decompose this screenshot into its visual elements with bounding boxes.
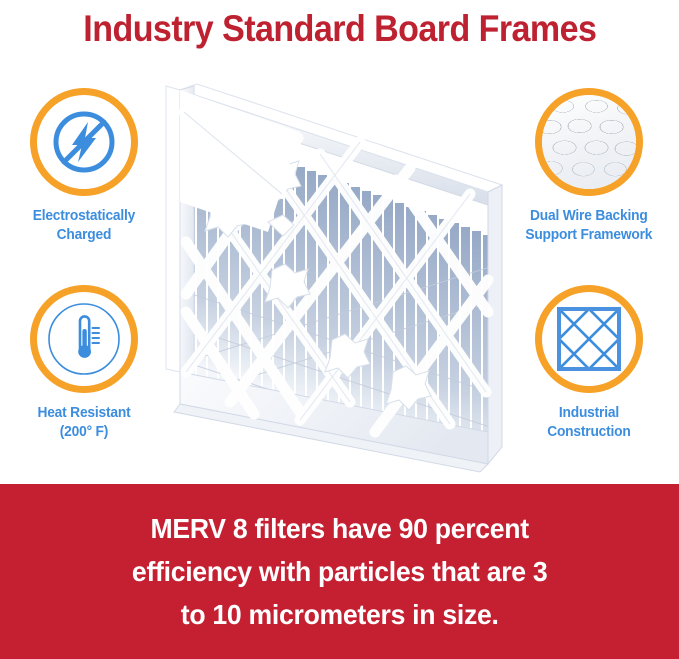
wire-mesh-photo-icon <box>542 95 636 189</box>
feature-label-line1: Dual Wire Backing <box>530 208 648 224</box>
feature-dual-wire-backing: Dual Wire Backing Support Framework <box>505 88 673 245</box>
feature-label-line2: Charged <box>57 227 112 243</box>
bottom-banner: MERV 8 filters have 90 percent efficienc… <box>0 484 679 659</box>
feature-heat-resistant: Heat Resistant (200° F) <box>0 285 168 442</box>
feature-icon-ring <box>535 285 643 393</box>
product-image-pleated-air-filter <box>150 72 510 477</box>
lattice-grid-icon <box>556 306 622 372</box>
feature-label-line2: Support Framework <box>526 227 653 243</box>
feature-electrostatically-charged: Electrostatically Charged <box>0 88 168 245</box>
feature-label: Dual Wire Backing Support Framework <box>526 207 653 245</box>
no-lightning-icon <box>47 105 121 179</box>
banner-line-1: MERV 8 filters have 90 percent <box>132 507 548 550</box>
banner-text: MERV 8 filters have 90 percent efficienc… <box>105 507 574 636</box>
feature-label-line1: Heat Resistant <box>37 405 130 421</box>
feature-label: Electrostatically Charged <box>33 207 135 245</box>
feature-label-line2: Construction <box>547 424 630 440</box>
banner-line-3: to 10 micrometers in size. <box>132 593 548 636</box>
feature-label-line2: (200° F) <box>60 424 108 440</box>
feature-industrial-construction: Industrial Construction <box>505 285 673 442</box>
feature-label-line1: Electrostatically <box>33 208 135 224</box>
feature-label-line1: Industrial <box>559 405 619 421</box>
product-infographic: Industry Standard Board Frames Electrost… <box>0 0 679 659</box>
feature-icon-ring <box>535 88 643 196</box>
feature-icon-ring <box>30 88 138 196</box>
banner-line-2: efficiency with particles that are 3 <box>132 550 548 593</box>
feature-label: Heat Resistant (200° F) <box>37 404 130 442</box>
feature-label: Industrial Construction <box>547 404 630 442</box>
page-title-text: Industry Standard Board Frames <box>83 9 596 49</box>
feature-icon-ring <box>30 285 138 393</box>
thermometer-icon <box>44 299 124 379</box>
page-title: Industry Standard Board Frames <box>0 0 679 58</box>
